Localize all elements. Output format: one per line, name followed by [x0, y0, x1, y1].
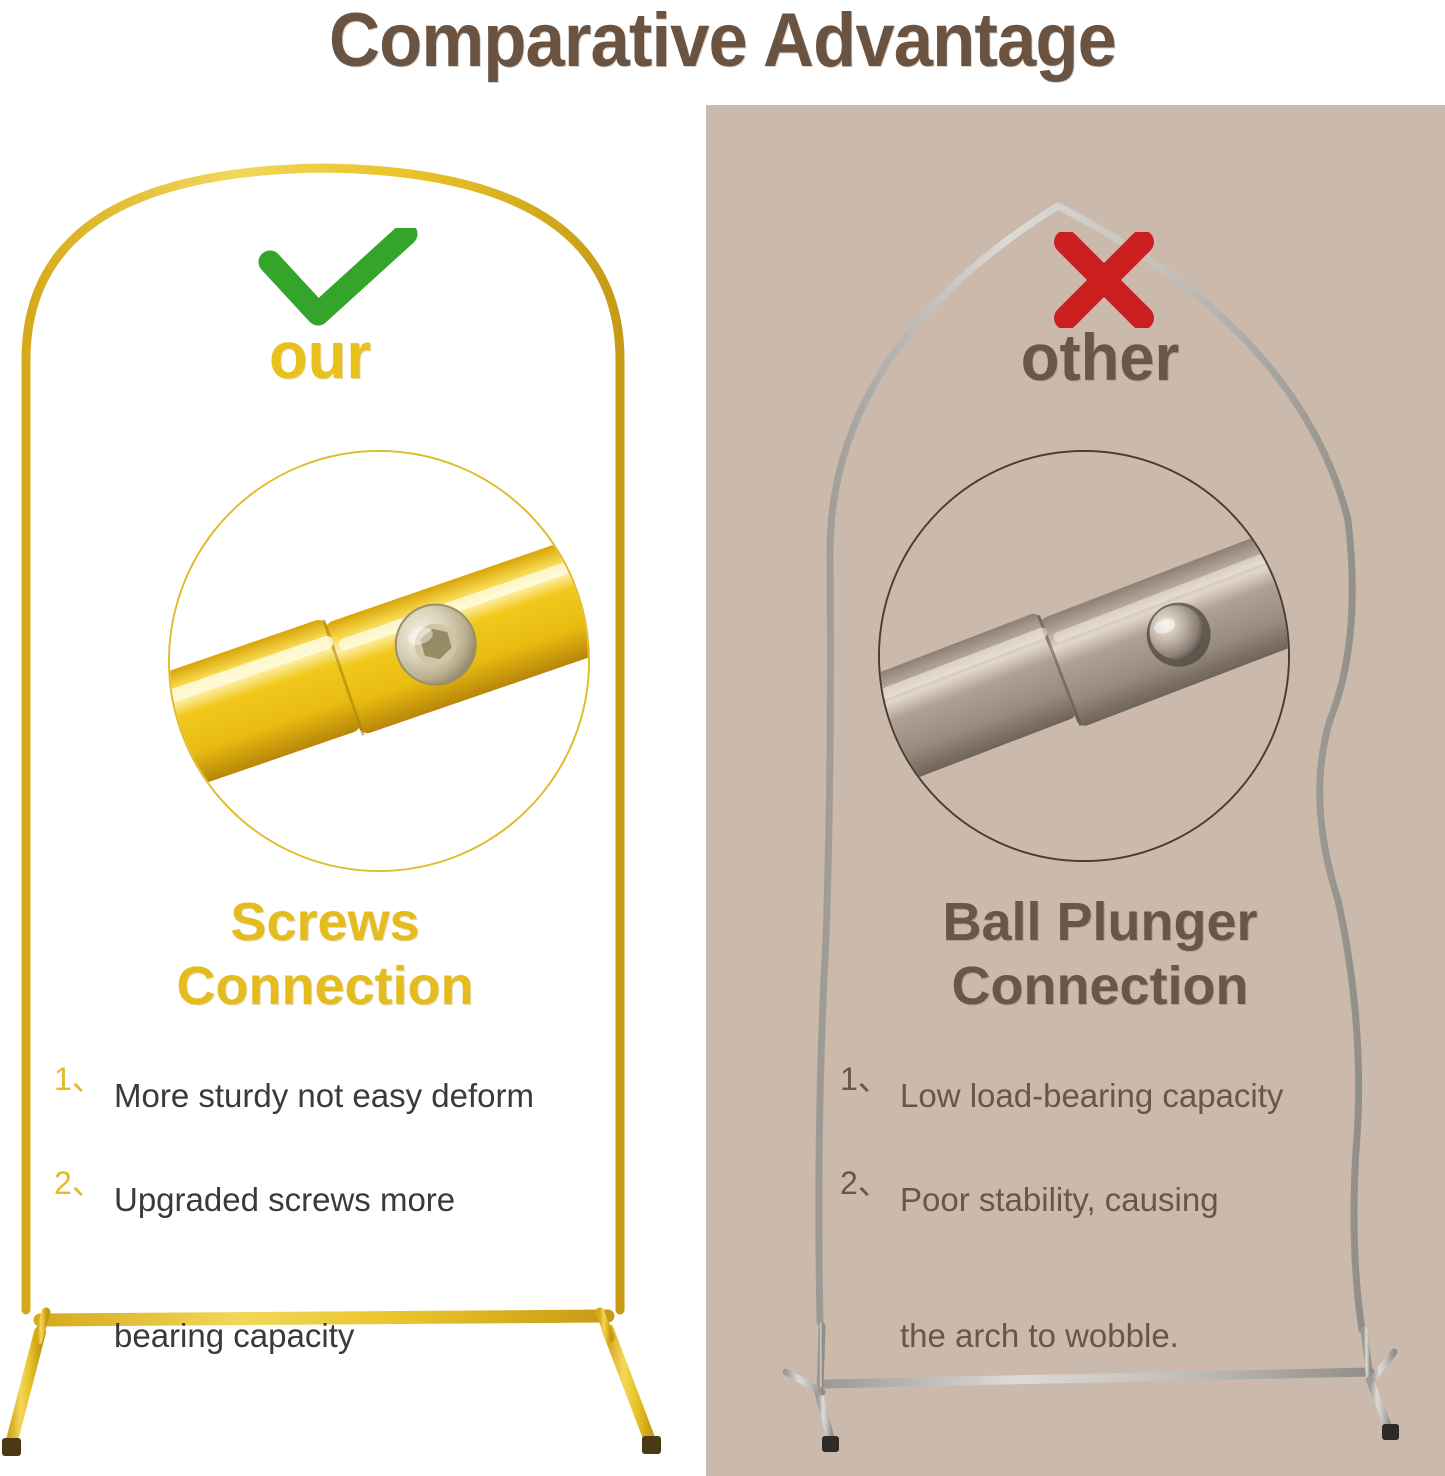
bullet-text: Poor stability, causing the arch to wobb… [900, 1166, 1400, 1370]
bullet-text: More sturdy not easy deform [114, 1062, 634, 1130]
page-title: Comparative Advantage [51, 0, 1395, 84]
bullet-text: Upgraded screws more bearing capacity [114, 1166, 634, 1370]
list-item: 1、 More sturdy not easy deform [54, 1062, 634, 1130]
left-label-our: our [13, 320, 627, 390]
right-section-heading: Ball Plunger Connection [800, 890, 1400, 1018]
right-label-other: other [812, 322, 1388, 392]
list-item: 2、 Upgraded screws more bearing capacity [54, 1166, 634, 1370]
list-item: 2、 Poor stability, causing the arch to w… [840, 1166, 1400, 1370]
bullet-number: 2、 [54, 1166, 114, 1200]
comparison-infographic: Comparative Advantage [0, 0, 1445, 1476]
bullet-text: Low load-bearing capacity [900, 1062, 1400, 1130]
cross-mark-icon [1052, 232, 1156, 328]
gray-tube-ball-plunger-illustration [880, 452, 1288, 860]
yellow-tube-screw-illustration [170, 452, 588, 870]
left-section-heading: Screws Connection [30, 890, 620, 1018]
bullet-number: 2、 [840, 1166, 900, 1200]
list-item: 1、 Low load-bearing capacity [840, 1062, 1400, 1130]
bullet-number: 1、 [54, 1062, 114, 1096]
left-bullet-list: 1、 More sturdy not easy deform 2、 Upgrad… [54, 1062, 634, 1406]
bullet-number: 1、 [840, 1062, 900, 1096]
left-detail-photo [168, 450, 590, 872]
check-mark-icon [258, 228, 418, 328]
right-detail-photo [878, 450, 1290, 862]
right-bullet-list: 1、 Low load-bearing capacity 2、 Poor sta… [840, 1062, 1400, 1406]
